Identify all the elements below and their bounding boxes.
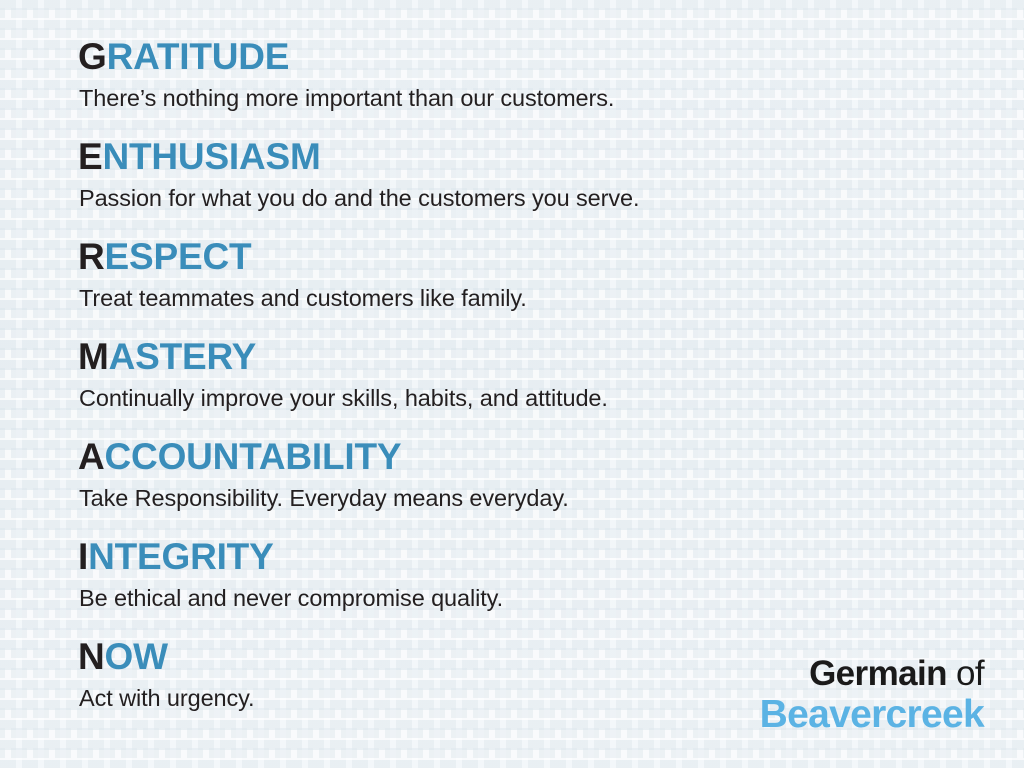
value-remainder: OW	[105, 636, 168, 677]
value-remainder: CCOUNTABILITY	[105, 436, 402, 477]
logo-brand-name: Germain	[809, 654, 947, 693]
value-remainder: RATITUDE	[107, 36, 290, 77]
values-slide: GRATITUDE There’s nothing more important…	[0, 0, 1024, 768]
value-heading: ENTHUSIASM	[78, 138, 978, 175]
value-initial: R	[78, 236, 105, 277]
value-initial: G	[78, 36, 107, 77]
value-heading: ACCOUNTABILITY	[78, 438, 978, 475]
value-initial: I	[78, 536, 88, 577]
value-description: There’s nothing more important than our …	[79, 87, 978, 111]
value-initial: M	[78, 336, 109, 377]
value-block: INTEGRITY Be ethical and never compromis…	[78, 538, 978, 638]
value-remainder: ESPECT	[105, 236, 252, 277]
value-description: Treat teammates and customers like famil…	[79, 287, 978, 311]
value-initial: E	[78, 136, 102, 177]
core-values-list: GRATITUDE There’s nothing more important…	[78, 38, 978, 738]
value-block: ACCOUNTABILITY Take Responsibility. Ever…	[78, 438, 978, 538]
value-block: MASTERY Continually improve your skills,…	[78, 338, 978, 438]
value-heading: RESPECT	[78, 238, 978, 275]
value-remainder: NTEGRITY	[88, 536, 273, 577]
value-heading: GRATITUDE	[78, 38, 978, 75]
logo-location: Beavercreek	[760, 695, 984, 734]
value-initial: A	[78, 436, 105, 477]
value-block: ENTHUSIASM Passion for what you do and t…	[78, 138, 978, 238]
dealership-logo: Germain of Beavercreek	[760, 656, 984, 734]
value-description: Passion for what you do and the customer…	[79, 187, 978, 211]
logo-connector	[947, 654, 956, 693]
value-block: RESPECT Treat teammates and customers li…	[78, 238, 978, 338]
value-description: Be ethical and never compromise quality.	[79, 587, 978, 611]
value-description: Take Responsibility. Everyday means ever…	[79, 487, 978, 511]
value-initial: N	[78, 636, 105, 677]
value-block: GRATITUDE There’s nothing more important…	[78, 38, 978, 138]
value-heading: INTEGRITY	[78, 538, 978, 575]
value-remainder: ASTERY	[109, 336, 257, 377]
value-heading: MASTERY	[78, 338, 978, 375]
value-description: Continually improve your skills, habits,…	[79, 387, 978, 411]
value-remainder: NTHUSIASM	[102, 136, 320, 177]
logo-primary-line: Germain of	[760, 656, 984, 691]
logo-connector-word: of	[956, 654, 984, 693]
